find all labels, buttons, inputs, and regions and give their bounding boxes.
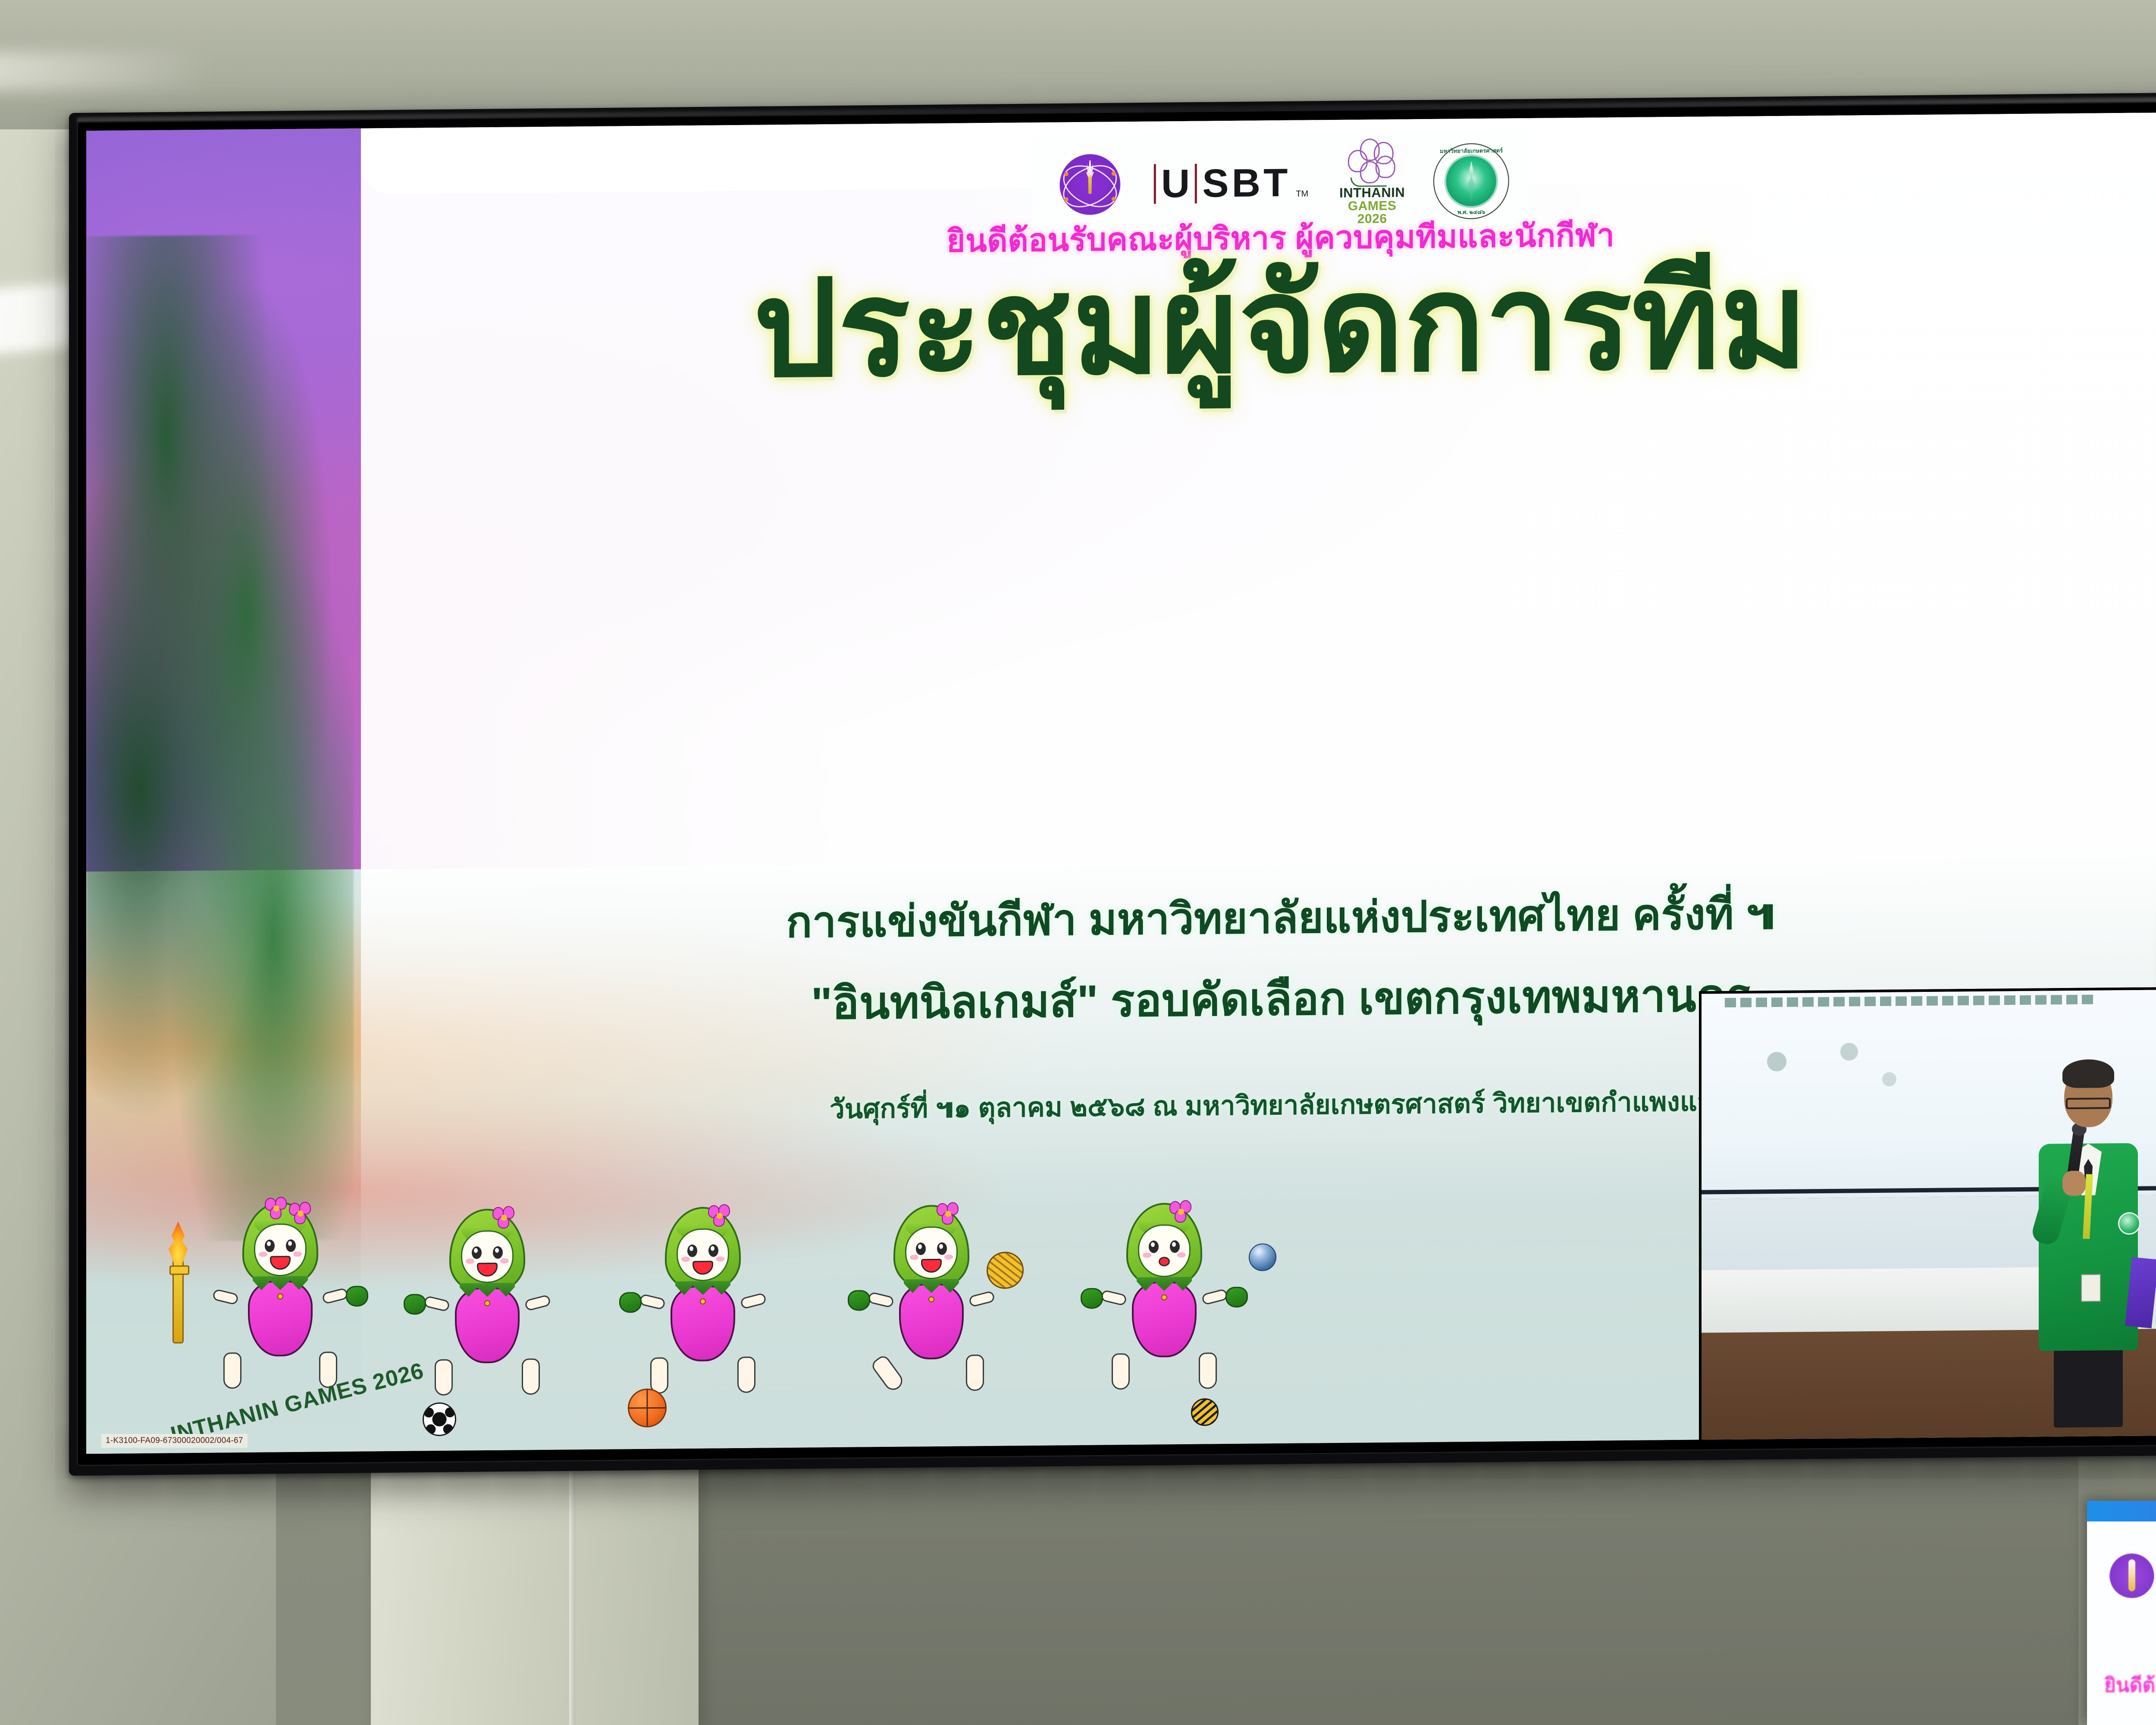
column-edge-highlight	[569, 1453, 575, 1725]
support-column	[371, 1453, 699, 1725]
mascot-face	[905, 1226, 958, 1280]
usbt-bar-left	[1154, 164, 1156, 204]
petanque-ball-icon	[1249, 1243, 1276, 1271]
mascot-head	[665, 1207, 741, 1292]
wall-mounted-television[interactable]: U SBT TM INTHANIN GAMES 2026 มหาวิทยา	[69, 101, 2156, 1464]
mascot-body	[248, 1280, 313, 1357]
usbt-letters-sbt: SBT	[1202, 165, 1291, 202]
flower-icon	[265, 1197, 288, 1220]
takraw-ball-dark-icon	[1191, 1398, 1219, 1426]
pip-slide-graphics	[1733, 1019, 1934, 1136]
mascot-head	[242, 1201, 318, 1287]
torch-cup	[169, 1265, 189, 1275]
mascot-face	[677, 1228, 729, 1281]
kasetsart-seal-icon: มหาวิทยาลัยเกษตรศาสตร์ พ.ศ. ๒๔๘๖	[1433, 143, 1509, 220]
mascot-mouth	[270, 1256, 291, 1270]
secondary-display-accent-bar	[2087, 1501, 2156, 1521]
mascot-takraw-player	[871, 1204, 992, 1421]
mascot-basketballer	[642, 1206, 763, 1423]
ceiling-light-far	[0, 52, 207, 91]
mascot-body	[1132, 1281, 1197, 1358]
mhesi-seal-icon	[1052, 146, 1128, 223]
usbt-bar-right	[1195, 164, 1197, 204]
mascot-head	[1126, 1203, 1202, 1288]
mascot-face	[461, 1230, 514, 1283]
mascot-button	[277, 1293, 283, 1299]
sepak-takraw-ball-icon	[987, 1251, 1024, 1289]
secondary-display-welcome-line: ยินดีต้อนรับคณะผู้บริหาร ผู้ควบคุมทีมและ…	[2104, 1669, 2156, 1701]
mascot-glove	[346, 1286, 368, 1306]
olympic-torch-icon	[172, 1257, 184, 1343]
speaker-trousers	[2054, 1343, 2123, 1428]
mascot-head	[449, 1208, 525, 1294]
usbt-wordmark: U SBT TM	[1151, 163, 1311, 204]
basketball-icon	[628, 1388, 667, 1427]
tv-screen[interactable]: U SBT TM INTHANIN GAMES 2026 มหาวิทยา	[86, 110, 2156, 1454]
mascot-body	[899, 1283, 964, 1359]
flame-icon	[163, 1221, 193, 1263]
trademark-icon: TM	[1296, 189, 1308, 203]
eyeglasses-icon	[2066, 1098, 2111, 1109]
speaker-hand	[2062, 1170, 2086, 1195]
mhesi-seal-icon-small	[2104, 1548, 2156, 1603]
flower-icon	[1169, 1200, 1193, 1223]
usbt-letter-u: U	[1161, 166, 1190, 202]
ku-seal-emblem	[1445, 154, 1498, 208]
flower-icon	[937, 1202, 960, 1225]
mascot-petanque-player	[1104, 1202, 1225, 1419]
live-camera-pip[interactable]	[1699, 985, 2156, 1440]
mascot-body	[455, 1287, 520, 1363]
mascot-head	[893, 1204, 969, 1290]
runner-icon	[1351, 177, 1387, 187]
mascot-collar	[253, 1276, 308, 1290]
inthanin-logo-line1: INTHANIN	[1334, 185, 1410, 200]
mascot-face	[254, 1223, 307, 1276]
flower-icon	[289, 1202, 312, 1225]
flower-icon	[708, 1204, 731, 1227]
soccer-ball-icon	[423, 1402, 456, 1436]
speaker-id-card	[2081, 1274, 2101, 1302]
flower-icon	[492, 1206, 516, 1229]
secondary-display[interactable]: USBT INTHANIN GAMES ยินดีต้อนรับคณะผู้บร…	[2087, 1501, 2156, 1725]
speaker-hair	[2062, 1059, 2114, 1088]
slide-main-title: ประชุมผู้จัดการทีม	[86, 239, 2156, 410]
mascot-footballer	[427, 1208, 548, 1425]
mascot-body	[671, 1285, 735, 1361]
speaker-figure	[1996, 1043, 2156, 1428]
inthanin-flower-icon	[1347, 138, 1397, 185]
asset-tag-label: 1-K3100-FA09-67300020002/004-67	[101, 1434, 248, 1448]
mascot-face	[1138, 1224, 1191, 1277]
secondary-display-logo-row: USBT INTHANIN GAMES	[2104, 1548, 2156, 1603]
wall-shadow-band	[699, 1453, 2078, 1725]
